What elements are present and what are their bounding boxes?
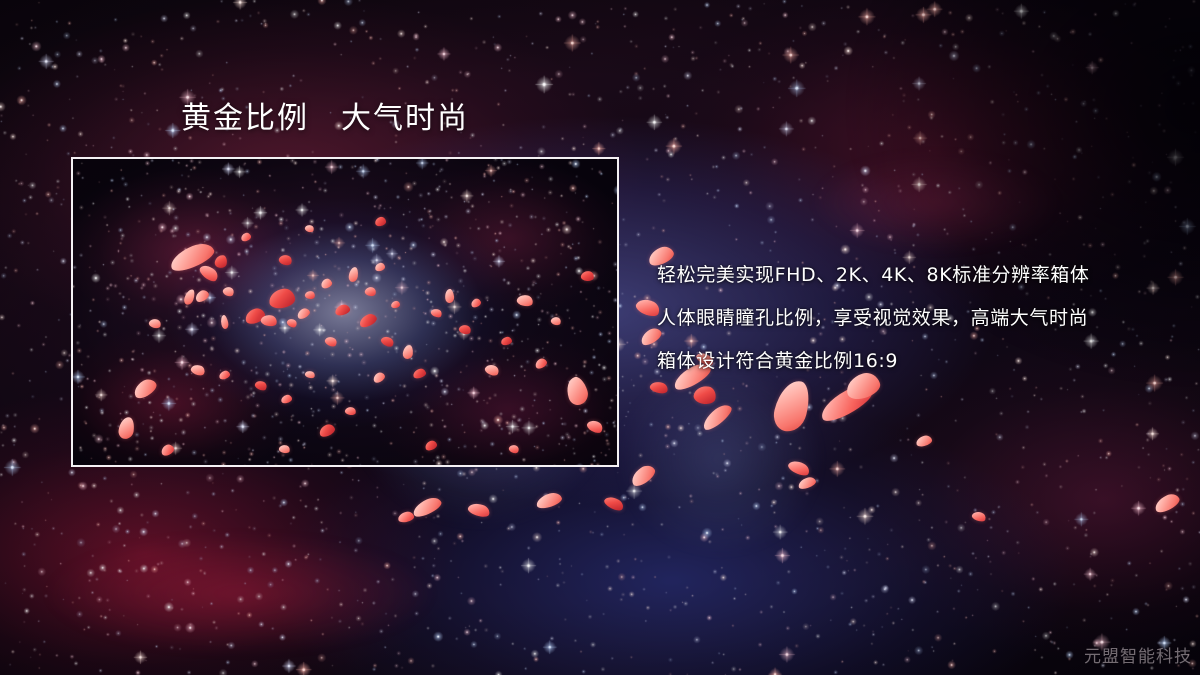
framed-image-starfield	[73, 159, 617, 465]
body-line-1: 轻松完美实现FHD、2K、4K、8K标准分辨率箱体	[657, 254, 1177, 297]
watermark: 元盟智能科技	[1084, 642, 1192, 667]
page-title: 黄金比例 大气时尚	[181, 102, 469, 136]
body-text-block: 轻松完美实现FHD、2K、4K、8K标准分辨率箱体 人体眼睛瞳孔比例，享受视觉效…	[657, 254, 1177, 383]
body-line-3: 箱体设计符合黄金比例16:9	[657, 340, 1177, 383]
slide-canvas: 黄金比例 大气时尚 轻松完美实现FHD、2K、4K、8K标准分辨率箱体 人体眼睛…	[0, 0, 1200, 675]
framed-image	[71, 157, 619, 467]
body-line-2: 人体眼睛瞳孔比例，享受视觉效果，高端大气时尚	[657, 297, 1177, 340]
